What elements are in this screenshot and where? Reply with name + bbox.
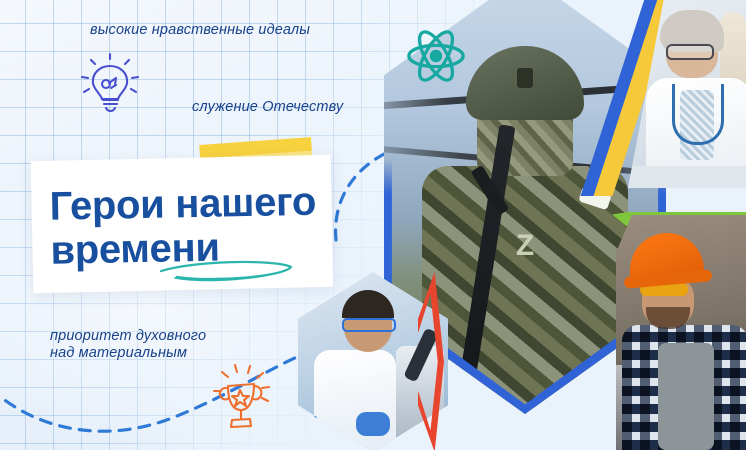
trophy-icon <box>204 362 276 434</box>
soldier-helmet-mount <box>517 68 533 88</box>
doctor-eyeglasses <box>666 44 714 60</box>
title-line-1: Герои нашего <box>49 179 340 229</box>
stethoscope <box>672 84 724 145</box>
worker-overalls <box>658 343 714 450</box>
poster-canvas: Z <box>0 0 746 450</box>
soldier-z-marking: Z <box>516 229 534 263</box>
tagline-service: служение Отечеству <box>192 99 343 115</box>
tagline-moral-ideals: высокие нравственные идеалы <box>90 22 310 38</box>
scientist-glove <box>356 412 390 436</box>
lightbulb-icon <box>78 52 142 118</box>
atom-icon <box>405 25 467 87</box>
title-underline-swoosh <box>155 257 295 285</box>
scientist-hair <box>342 290 394 318</box>
doctor-desk <box>628 166 746 188</box>
tagline-spiritual: приоритет духовного над материальным <box>50 328 206 362</box>
scientist-goggles <box>342 318 396 332</box>
photo-worker <box>616 215 746 450</box>
